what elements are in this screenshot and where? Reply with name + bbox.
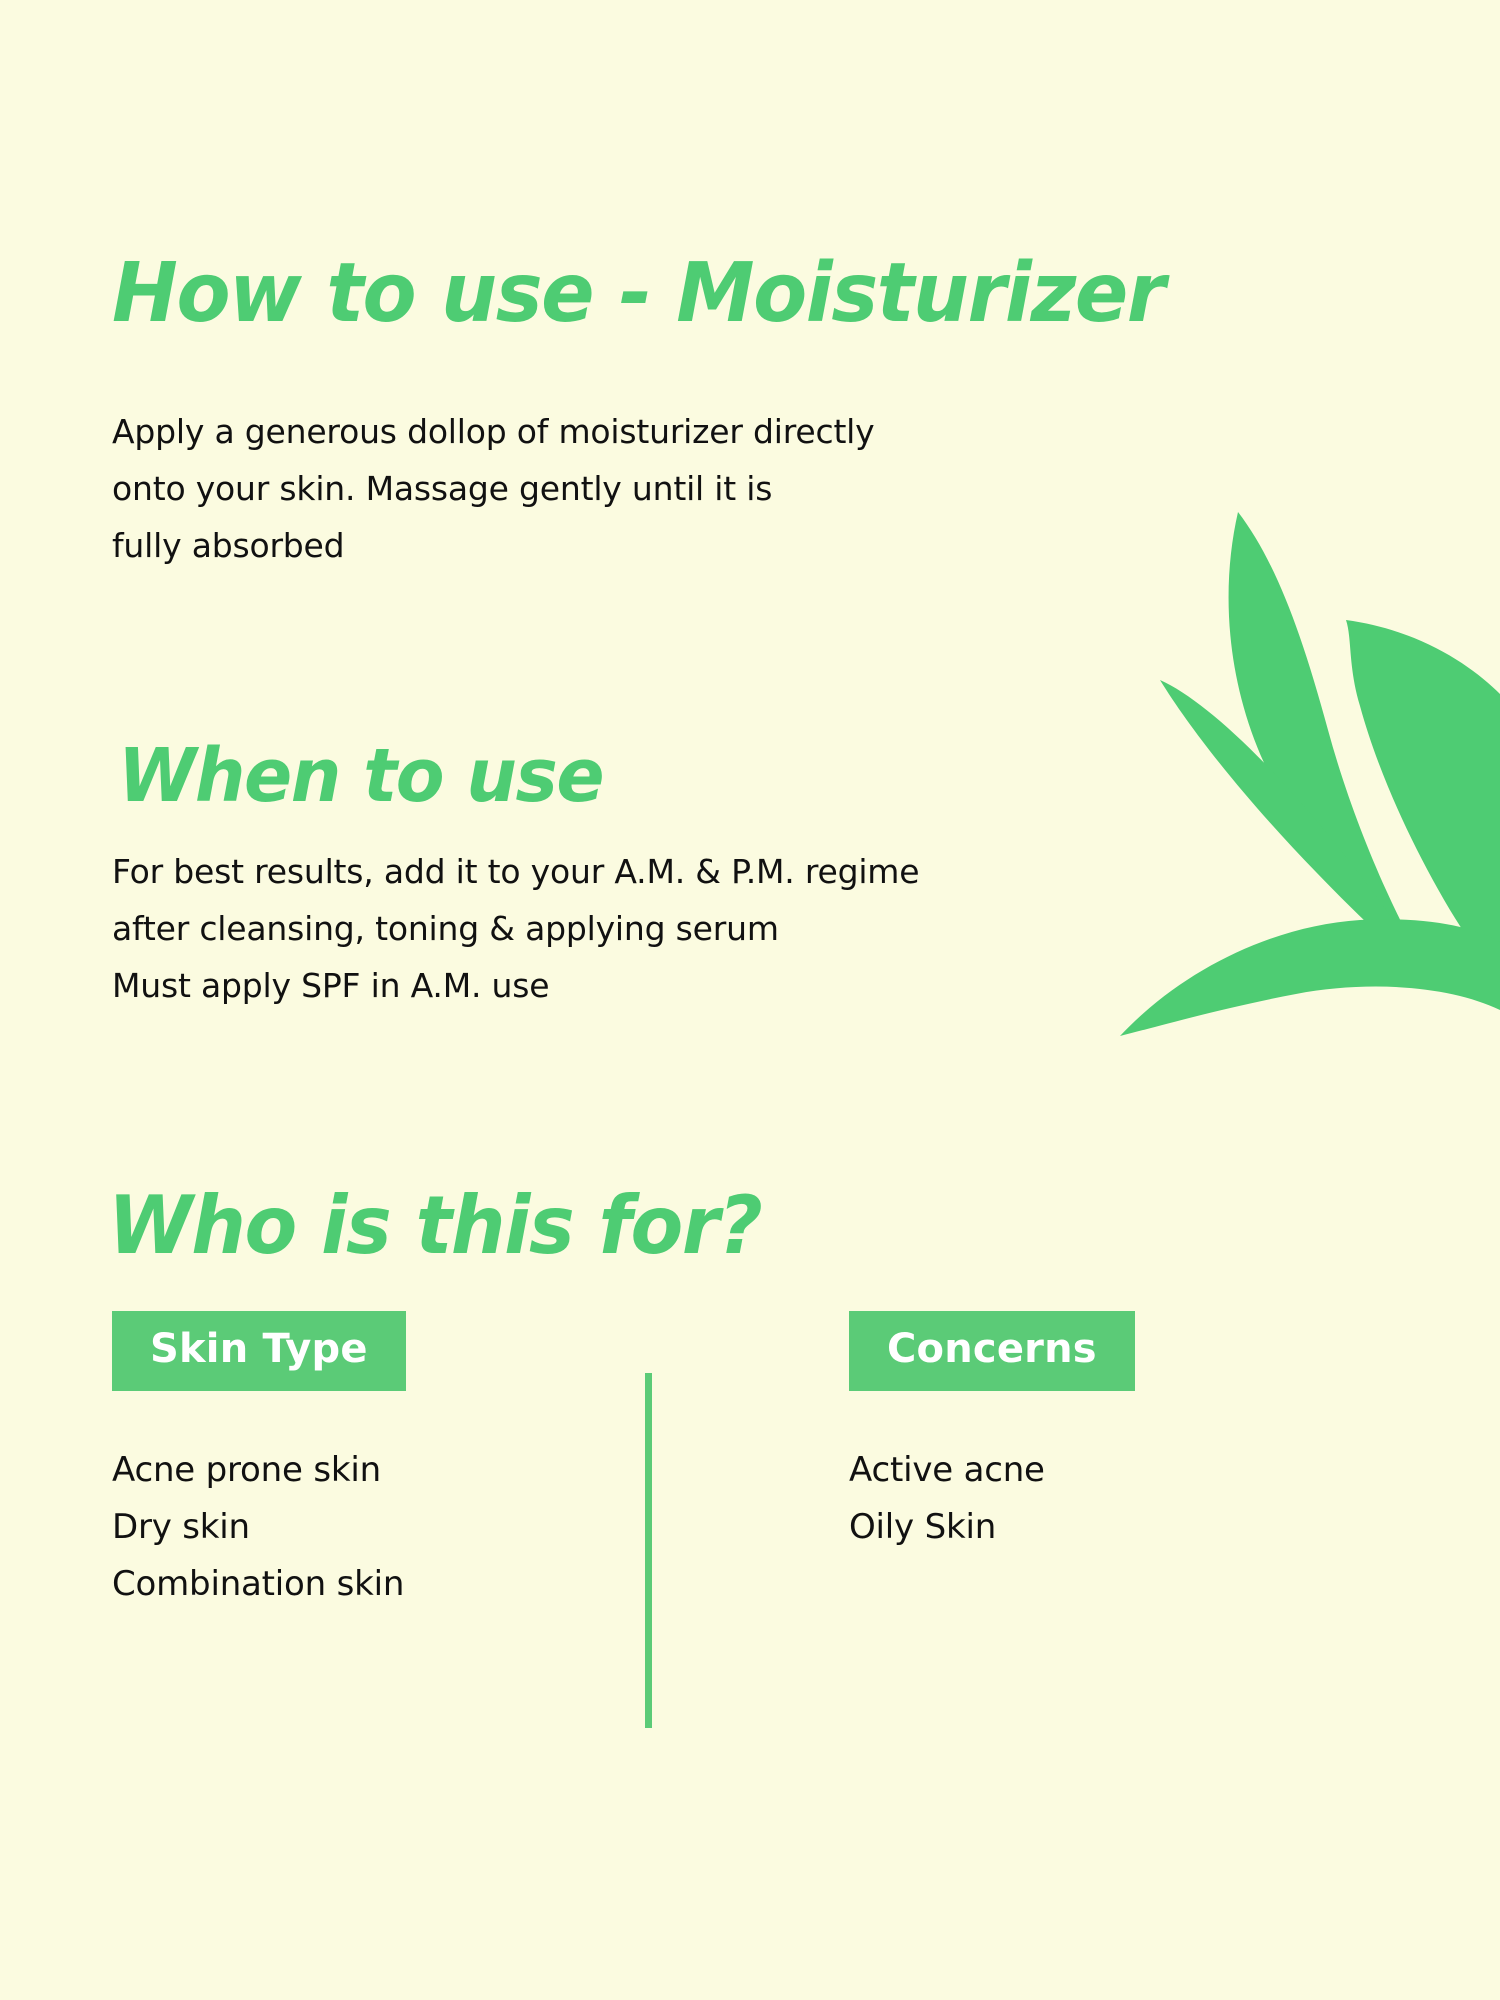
list-item: Combination skin [112,1556,404,1613]
leaf-cluster-icon [1120,480,1500,1040]
body-line: fully absorbed [112,518,874,575]
column-divider [645,1373,652,1728]
list-item: Oily Skin [849,1499,1045,1556]
badge-skin-type: Skin Type [112,1311,406,1391]
section-heading-who-is-this-for: Who is this for? [108,1186,761,1266]
body-line: Apply a generous dollop of moisturizer d… [112,404,874,461]
list-concerns: Active acne Oily Skin [849,1442,1045,1556]
body-line: onto your skin. Massage gently until it … [112,461,874,518]
body-line: For best results, add it to your A.M. & … [112,844,919,901]
section-heading-how-to-use: How to use - Moisturizer [112,253,1164,335]
section-heading-when-to-use: When to use [118,739,603,813]
body-line: Must apply SPF in A.M. use [112,958,919,1015]
badge-concerns: Concerns [849,1311,1135,1391]
list-item: Active acne [849,1442,1045,1499]
body-copy-how-to-use: Apply a generous dollop of moisturizer d… [112,404,874,574]
list-item: Dry skin [112,1499,404,1556]
list-skin-type: Acne prone skin Dry skin Combination ski… [112,1442,404,1613]
poster-canvas: How to use - Moisturizer Apply a generou… [0,0,1500,2000]
list-item: Acne prone skin [112,1442,404,1499]
body-line: after cleansing, toning & applying serum [112,901,919,958]
body-copy-when-to-use: For best results, add it to your A.M. & … [112,844,919,1014]
